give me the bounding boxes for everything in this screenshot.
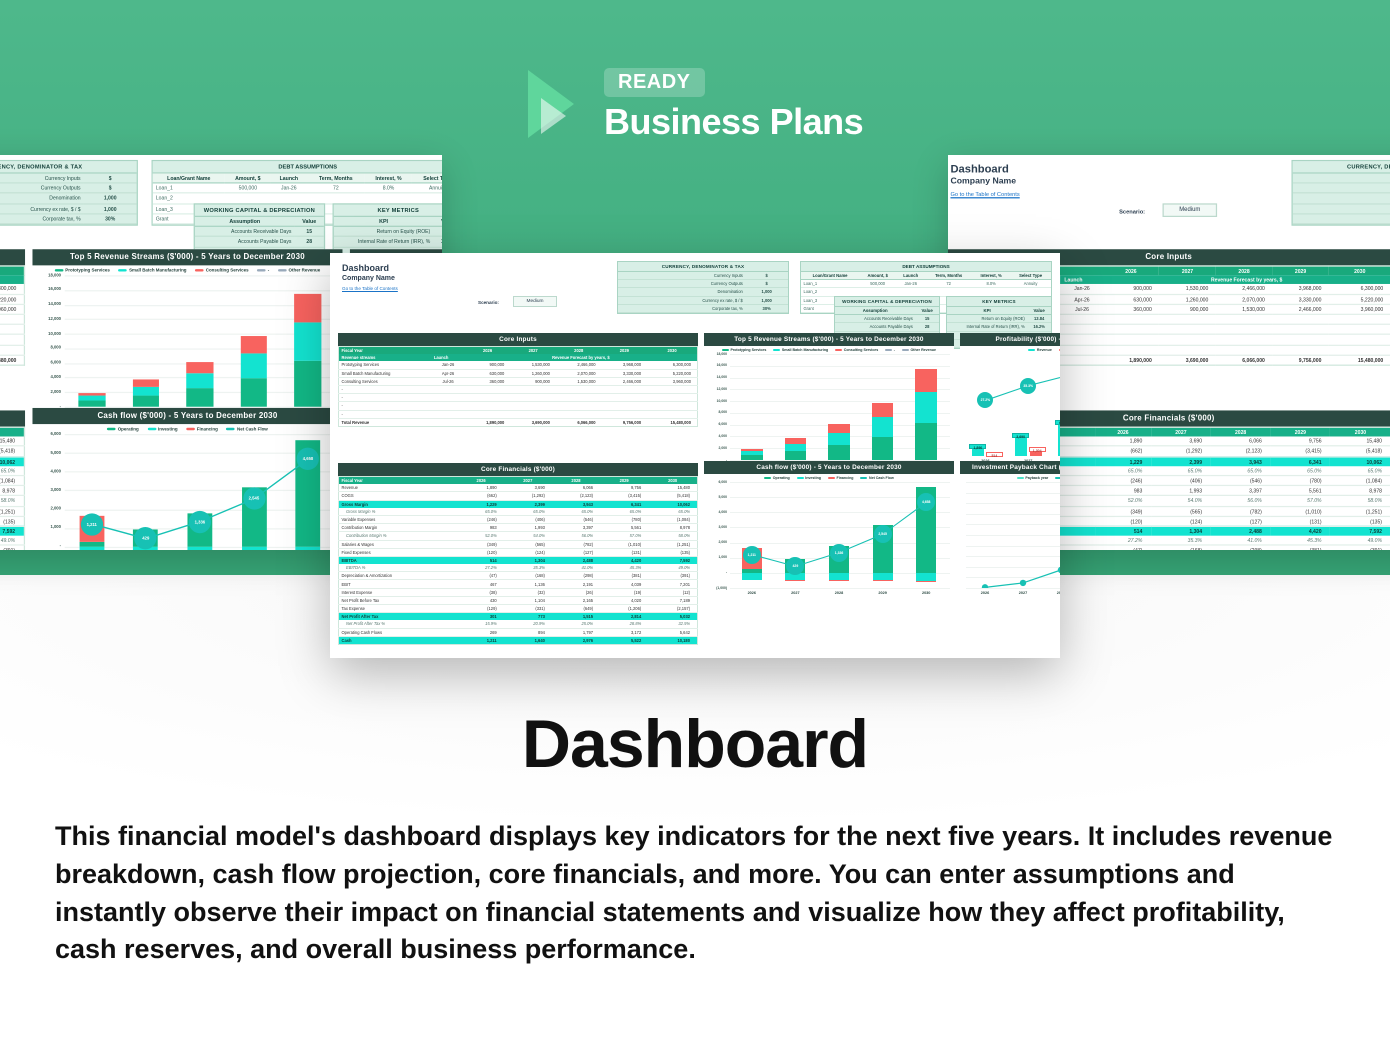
y-tick-label: 4,000 [32,375,61,381]
column-header: Interest, % [972,272,1010,280]
chart-legend: RevenueEBITDAEBITDA % [960,346,1060,354]
stacked-bar-segment [872,437,894,460]
legend-label: Operating [118,427,139,432]
chart-plot: (1,000)-1,0002,0003,0004,0005,0006,00020… [32,434,342,550]
stacked-bar-segment [132,396,159,407]
legend-item: Operating [107,427,139,432]
row-value: (135) [1330,516,1390,526]
stream-name: Small Batch Manufacturing [339,369,432,377]
row-value: 3,943 [1211,456,1271,466]
table-cell: Corporate tax, % [618,304,745,312]
stream-launch [1061,314,1102,324]
total-value: 15,480,000 [647,418,697,426]
row-value: 49.0% [0,536,24,546]
stream-launch: Jul-26 [1061,304,1102,314]
column-header: Select Type [1010,272,1051,280]
table-cell: 16.2% [1027,323,1051,331]
revenue-stream-row: - [339,410,698,418]
year-header: 2030 [1330,427,1390,437]
legend-label: Small Batch Manufacturing [782,348,828,352]
row-value: (127) [1211,516,1271,526]
row-value: 5,561 [600,524,648,532]
revenue-stream-row: Consulting ServicesJul-26360,000900,0001… [0,304,24,314]
table-cell [412,193,442,203]
stream-launch [431,394,464,402]
x-tick-label: 2026 [966,591,1004,597]
financial-row: Net Profit Before Tax4301,1042,1654,0207… [339,596,698,604]
currency-denominator-tax-block: CURRENCY, DENOMINATOR & TAXCurrency Inpu… [0,160,138,226]
stream-value: 6,300,000 [647,361,697,369]
table-row: Denomination1,000 [0,193,137,203]
table-cell: 13.84 [1027,315,1051,323]
stream-value [1329,314,1390,324]
stream-value: 1,530,000 [1159,284,1216,294]
legend-label: Investing [805,476,821,480]
chart-legend: OperatingInvestingFinancingNet Cash Flow [32,424,342,434]
legend-swatch [773,349,780,351]
scenario-select[interactable]: Medium [513,296,557,307]
table-cell: Denomination [1293,193,1390,203]
row-value: 1,515 [552,613,600,621]
stream-value [0,335,24,345]
row-value: (124) [504,548,552,556]
legend-swatch [278,269,287,272]
stacked-bar-segment [294,294,321,323]
column-header: Amount, $ [225,174,271,184]
table-header: DEBT ASSUMPTIONS [801,262,1051,272]
financial-row: Gross Margin1,2292,3993,9436,34110,062 [0,456,24,466]
row-value: 894 [504,628,552,636]
ebitda-percent-line [960,354,1060,456]
y-tick-label: 12,000 [704,387,727,392]
legend-swatch [227,428,236,431]
table-cell: Jan-26 [896,280,925,288]
stacked-bar-segment [294,323,321,361]
stream-value: 2,070,000 [1216,294,1273,304]
stream-launch [431,385,464,393]
chart-bar: Top 5 Revenue Streams ($'000) - 5 Years … [32,249,342,421]
legend-item: Consulting Services [195,268,248,273]
y-tick-label: 2,000 [704,446,727,451]
table-cell: 15 [915,315,939,323]
stacked-bar-segment [872,403,894,418]
table-cell [1010,288,1051,296]
toc-link[interactable]: Go to the Table of Contents [950,191,1019,197]
column-header: Interest, % [365,174,412,184]
table-row: Return on Equity (ROE)13.84 [334,227,442,237]
gridline [966,588,1060,589]
table-cell [859,288,896,296]
stacked-bar-segment [785,444,807,451]
revenue-bar-label: 1,890 [969,444,986,449]
row-value: (1,251) [648,540,697,548]
scenario-label: Scenario: [1119,208,1145,214]
table-cell: $ [745,280,788,288]
legend-item: - [257,268,269,273]
stacked-bar-segment [294,361,321,407]
total-value: 15,480,000 [0,355,24,365]
table-header-row: Loan/Grant NameAmount, $LaunchTerm, Mont… [153,174,442,184]
row-value: 1,229 [459,500,504,508]
row-label: Revenue [339,484,459,492]
row-value: (12) [648,588,697,596]
stream-value [556,394,602,402]
year-header: 2028 [1211,427,1271,437]
table-row: Denomination1,000 [1293,193,1390,203]
row-value: (1,292) [504,492,552,500]
financial-row: COGS(662)(1,292)(2,123)(3,415)(5,418) [0,446,24,456]
table-row: Currency ex rate, $ / $1,000 [0,203,137,213]
stream-value [0,314,24,324]
stream-value: 2,466,000 [1272,304,1329,314]
legend-label: Consulting Services [206,268,249,273]
column-header: Assumption [835,307,915,315]
stacked-bar-segment [186,374,213,389]
legend-item: Other Revenue [902,348,936,352]
table-row: Loan_1500,000Jan-26728.0%Annuity [153,183,442,193]
row-value: (5,418) [648,492,697,500]
stream-value: 630,000 [465,369,511,377]
row-value: 49.0% [648,564,697,572]
x-tick-label: 2028 [817,591,861,597]
net-cash-flow-bubble: 1,336 [189,510,211,532]
row-value: (662) [459,492,504,500]
legend-swatch [764,477,771,479]
year-header: 2030 [1329,266,1390,276]
row-value: 65.0% [504,508,552,516]
table-header-row: AssumptionValue [835,307,939,315]
chart-legend: Payback yearCumulative Cash Generated (S… [960,474,1060,482]
table-cell: 500,000 [859,280,896,288]
company-name: Company Name [950,177,1016,186]
legend-swatch [902,349,909,351]
year-header: 2028 [556,347,602,355]
stream-name: Prototyping Services [339,361,432,369]
stream-value [1216,314,1273,324]
stream-value [1329,335,1390,345]
column-header: Value [433,217,442,227]
company-name: Company Name [342,275,395,282]
table-cell: Annuity [1010,280,1051,288]
stream-value: 2,466,000 [602,377,648,385]
revenue-stream-row: Small Batch ManufacturingApr-26630,0001,… [339,369,698,377]
table-row: Loan_1500,000Jan-26728.0%Annuity [801,280,1051,288]
stream-value [647,410,697,418]
legend-item: Prototyping Services [55,268,110,273]
table-cell: 30% [745,304,788,312]
gridline [730,354,950,355]
row-label: Gross Margin [339,500,459,508]
table-row: Internal Rate of Return (IRR), %16.2% [334,237,442,247]
table-cell: 28 [915,323,939,331]
revenue-bar-label: 6,066 [1055,420,1060,425]
row-value: (649) [552,605,600,613]
legend-item: Small Batch Manufacturing [773,348,828,352]
year-header: 2027 [1159,266,1216,276]
financial-row: Gross Margin1,2292,3993,9436,34110,062 [339,500,698,508]
stream-value [1103,345,1160,355]
stacked-bar-segment [741,451,763,455]
row-value: (135) [648,548,697,556]
row-value: 27.2% [459,564,504,572]
stream-value [465,394,511,402]
y-tick-label: 6,000 [32,360,61,366]
row-value: (1,084) [0,475,24,485]
row-value: 7,592 [648,556,697,564]
row-value: 45.3% [600,564,648,572]
row-value: 6,341 [600,500,648,508]
chart-title: Top 5 Revenue Streams ($'000) - 5 Years … [704,333,954,346]
row-value: 9,756 [1270,437,1330,447]
row-value: 65.0% [1270,466,1330,476]
row-label: Gross Margin % [339,508,459,516]
sheet-title: Dashboard [950,162,1008,174]
row-value: (546) [1211,475,1271,485]
row-value: (124) [1151,516,1211,526]
row-label: Variable Expenses [339,515,459,523]
legend-swatch [119,269,128,272]
ebitda-percent-bubble: 35.3% [1020,378,1036,394]
legend-label: Payback year [1025,476,1048,480]
row-value: 27.2% [1095,536,1151,546]
table-cell: Currency Outputs [0,183,84,193]
row-value: 15,480 [1330,437,1390,447]
stream-header-row: Revenue streamsLaunchRevenue Forecast by… [339,354,698,361]
row-label: Contribution Margin % [339,532,459,540]
dashboard-sheet: DashboardCompany NameGo to the Table of … [330,253,1060,658]
row-value: 10,180 [648,636,697,644]
legend-item: Net Cash Flow [227,427,268,432]
gridline [730,588,950,589]
row-value: 2,488 [1211,526,1271,536]
row-value: 1,229 [1095,456,1151,466]
legend-label: Other Revenue [289,268,321,273]
row-value: (298) [1211,545,1271,550]
year-header: 2026 [465,347,511,355]
table-cell [925,288,972,296]
row-value: 15,480 [648,484,697,492]
row-value: 41.0% [1211,536,1271,546]
ebitda-bar-label: 514 [986,452,1003,457]
total-value: 15,480,000 [1329,355,1390,365]
stacked-bar-segment [186,389,213,407]
revenue-bar-label: 3,690 [1012,433,1029,438]
stream-value [647,394,697,402]
stream-value [510,410,556,418]
stream-value [556,410,602,418]
year-header: 2026 [1095,427,1151,437]
year-header: 2030 [0,266,24,276]
stacked-bar-segment [186,362,213,373]
legend-item: Revenue [1028,348,1051,352]
legend-swatch [885,349,892,351]
table-cell: Jan-26 [271,183,307,193]
row-value: 3,690 [504,484,552,492]
row-value: 1,993 [1151,486,1211,496]
legend-label: Prototyping Services [65,268,110,273]
stacked-bar-segment [240,378,267,407]
stream-value [0,345,24,355]
table-header: DEBT ASSUMPTIONS [153,161,442,173]
row-value: 2,399 [504,500,552,508]
row-value: 1,890 [459,484,504,492]
legend-swatch [147,428,156,431]
stream-value [1329,324,1390,334]
stacked-bar-segment [240,353,267,377]
scenario-select[interactable]: Medium [1163,203,1218,217]
y-tick-label: 18,000 [32,272,61,278]
legend-item: Financing [186,427,218,432]
row-label: EBITDA % [339,564,459,572]
financial-row: Contribution Margin9831,9933,3975,5618,9… [339,524,698,532]
toc-link[interactable]: Go to the Table of Contents [342,286,398,291]
table-header: WORKING CAPITAL & DEPRECIATION [195,205,324,217]
stream-value: 360,000 [1103,304,1160,314]
y-tick-label: 8,000 [32,345,61,351]
stream-value [602,410,648,418]
spreadsheet-panel-center[interactable]: DashboardCompany NameGo to the Table of … [330,253,1060,658]
financial-row: Gross Margin %65.0%65.0%65.0%65.0%65.0% [339,508,698,516]
row-value: (131) [600,548,648,556]
year-header: 2027 [1151,427,1211,437]
table-row: Return on Equity (ROE)13.84 [947,315,1051,323]
row-value: 54.0% [1151,496,1211,506]
table-header-row: KPIValue [947,307,1051,315]
table-cell: Accounts Receivable Days [195,227,295,237]
cumulative-cash-line [960,482,1060,588]
stream-launch [431,410,464,418]
column-header: Launch [896,272,925,280]
row-value: (391) [1330,545,1390,550]
y-tick-label: 14,000 [32,301,61,307]
legend-swatch [186,428,195,431]
revenue-stream-row: - [339,394,698,402]
table-cell: 72 [307,183,365,193]
row-label: EBIT [339,580,459,588]
y-tick-label: 6,000 [704,422,727,427]
row-value: 1,304 [504,556,552,564]
total-revenue-row: Total Revenue1,890,0003,690,0006,066,000… [0,355,24,365]
table-cell: 13.84 [433,227,442,237]
financial-row: Salaries & Wages(349)(565)(782)(1,010)(1… [0,506,24,516]
row-value: 301 [459,613,504,621]
row-value: 52.0% [459,532,504,540]
table-cell: Annuity [412,183,442,193]
legend-label: Financing [837,476,854,480]
table-header: KEY METRICS [334,205,442,217]
launch-label: Launch [431,354,464,361]
revenue-stream-row: Prototyping ServicesJan-26900,0001,530,0… [0,284,24,294]
net-cash-flow-bubble: 2,545 [874,525,892,543]
row-value: (298) [552,572,600,580]
year-header: 2026 [459,477,504,485]
legend-item: Small Batch Manufacturing [119,268,187,273]
stream-value [556,385,602,393]
legend-item: Consulting Services [835,348,878,352]
row-value: (19) [600,588,648,596]
brand-logo: READY Business Plans [528,58,888,150]
row-value: 10,062 [648,500,697,508]
row-label: Salaries & Wages [339,540,459,548]
financial-row: Contribution Margin %52.0%54.0%56.0%57.0… [0,496,24,506]
row-value: 514 [1095,526,1151,536]
stream-value: 3,330,000 [602,369,648,377]
row-value: (32) [504,588,552,596]
table-row: Corporate tax, %30% [618,304,788,312]
total-value: 3,690,000 [1159,355,1216,365]
column-header: Launch [271,174,307,184]
chart-legend: OperatingInvestingFinancingNet Cash Flow [704,474,954,482]
total-value: 9,756,000 [1272,355,1329,365]
table-row: Currency Outputs$ [0,183,137,193]
row-value: (546) [552,515,600,523]
stream-value [1272,335,1329,345]
stacked-bar-segment [741,449,763,451]
stream-value: 2,466,000 [556,361,602,369]
table-cell: $ [84,183,137,193]
stream-value [0,324,24,334]
row-value: 5,561 [1270,486,1330,496]
stream-value: 3,960,000 [647,377,697,385]
stream-value [510,402,556,410]
table-cell: 1,000 [84,203,137,213]
chart-plot: (1,000)-1,0002,0003,0004,0005,0006,00020… [704,482,954,602]
legend-item: - [885,348,895,352]
stream-name: - [339,394,432,402]
table-cell: 16.2% [433,237,442,247]
core-inputs-table: Fiscal Year20262027202820292030Revenue s… [0,265,25,365]
row-value: 3,397 [552,524,600,532]
column-header: Loan/Grant Name [801,272,859,280]
chart-plot: -2,0004,0006,0008,00010,00012,00014,0001… [704,354,954,472]
row-value: 6,066 [1211,437,1271,447]
column-header: Loan/Grant Name [153,174,225,184]
stream-launch: Jan-26 [1061,284,1102,294]
table-header-row: AssumptionValue [195,217,324,227]
financial-row: EBITDA5141,3042,4884,4207,592 [339,556,698,564]
fiscal-year-row: Fiscal Year20262027202820292030 [0,427,24,437]
chart-profitability: Profitability ($'000) - 5 Years to Decem… [960,333,1060,470]
stream-header-row: Revenue streamsLaunchRevenue Forecast by… [0,276,24,285]
row-value: 1,104 [504,596,552,604]
table-row: Loan_2 [801,288,1051,296]
stream-value: 630,000 [1103,294,1160,304]
total-label: Total Revenue [339,418,465,426]
stream-value [647,402,697,410]
stream-value: 5,220,000 [1329,294,1390,304]
stream-value: 1,260,000 [510,369,556,377]
chart-title: Profitability ($'000) - 5 Years to Decem… [960,333,1060,346]
table-row: Accounts Payable Days28 [195,237,324,247]
total-value: 9,756,000 [602,418,648,426]
y-tick-label: 4,000 [704,434,727,439]
mint-table: Currency Inputs$Currency Outputs$Denomin… [618,272,788,313]
legend-label: Consulting Services [844,348,879,352]
row-value: (1,010) [1270,506,1330,516]
legend-item: EBITDA [1059,348,1060,352]
row-value: 65.0% [1151,466,1211,476]
row-value: 1,993 [504,524,552,532]
core-inputs-header: Core Inputs [338,333,698,346]
column-header: Term, Months [925,272,972,280]
net-cash-flow-bubble: 1,336 [830,544,848,562]
row-value: 7,201 [648,580,697,588]
row-value: 4,020 [600,596,648,604]
legend-label: Operating [773,476,790,480]
x-tick-label: 2029 [861,591,905,597]
year-header: 2028 [1216,266,1273,276]
chart-bar: Top 5 Revenue Streams ($'000) - 5 Years … [704,333,954,472]
